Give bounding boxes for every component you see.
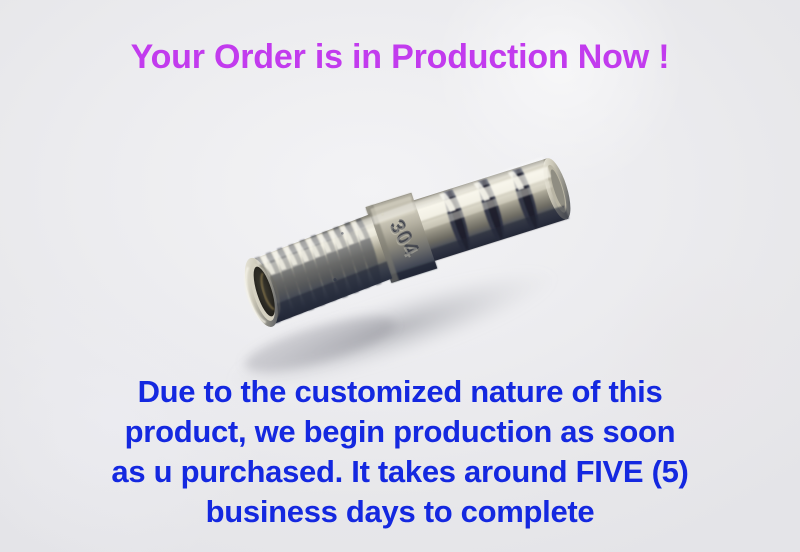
barb-ridge-highlights <box>439 169 524 213</box>
pipe-bore-opening <box>238 254 287 331</box>
message-line: Due to the customized nature of this <box>0 372 800 412</box>
message-line: product, we begin production as soon <box>0 412 800 452</box>
fitting-body: 304 304 304 <box>234 148 581 331</box>
production-notice-message: Due to the customized nature of this pro… <box>0 372 800 532</box>
threaded-section <box>248 214 395 326</box>
svg-text:304: 304 <box>384 218 423 262</box>
hex-shoulder-section: 304 304 304 <box>366 192 438 283</box>
barb-section <box>408 155 576 263</box>
surface-blemish <box>381 213 385 217</box>
page-title: Your Order is in Production Now ! <box>0 38 800 77</box>
thread-crest-highlights <box>259 220 367 276</box>
svg-text:304: 304 <box>384 217 423 261</box>
stamp-304: 304 304 304 <box>383 216 424 263</box>
svg-text:304: 304 <box>385 216 424 260</box>
thread-grooves <box>250 217 387 325</box>
surface-blemish <box>341 232 344 235</box>
screenshot-canvas: 304 304 304 <box>0 0 800 552</box>
barb-ridges <box>441 167 543 252</box>
message-line: business days to complete <box>0 492 800 532</box>
global-specular-highlight <box>253 157 548 266</box>
surface-blemish <box>333 278 337 282</box>
message-line: as u purchased. It takes around FIVE (5) <box>0 452 800 492</box>
